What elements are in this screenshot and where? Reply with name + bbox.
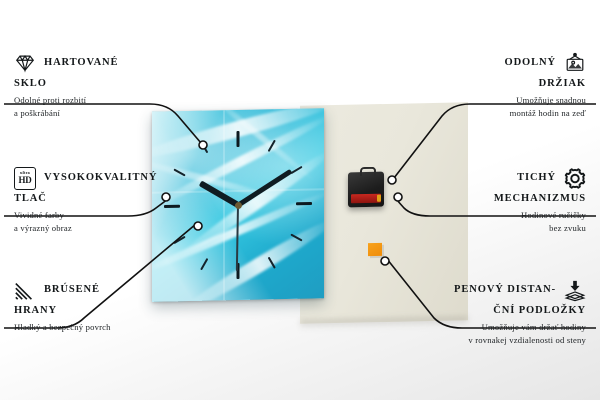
- hd-badge-hd-text: HD: [18, 176, 31, 185]
- feature-desc: Vividné farby a výrazný obraz: [14, 206, 184, 235]
- foam-pad-stack-icon: [564, 279, 586, 301]
- diamond-icon: [14, 52, 36, 74]
- feature-title-line2: SKLO: [14, 77, 184, 91]
- feature-desc-line: a výrazný obraz: [14, 222, 184, 235]
- mechanism-hanger: [360, 167, 376, 176]
- gear-icon: [564, 167, 586, 189]
- feature-desc: Umožňuje snadnou montáž hodin na zeď: [416, 91, 586, 120]
- feature-desc-line: Odolné proti rozbití: [14, 94, 184, 107]
- feature-durable-mount[interactable]: ODOLNÝ DRŽIAK Umožňuje snadnou montáž ho…: [416, 52, 586, 120]
- infographic-page: HARTOVANÉ SKLO Odolné proti rozbití a po…: [0, 0, 600, 400]
- feature-desc-line: bez zvuku: [416, 222, 586, 235]
- feature-title-line2: DRŽIAK: [416, 77, 586, 91]
- ultra-hd-badge-icon: ultra HD: [14, 167, 36, 189]
- feature-title: VYSOKOKVALITNÝ: [44, 171, 157, 185]
- feature-desc-line: Umožňuje snadnou: [416, 94, 586, 107]
- feature-desc: Odolné proti rozbití a poškrábání: [14, 91, 184, 120]
- feature-title: PENOVÝ DISTAN-: [454, 283, 556, 297]
- feature-foam-spacers[interactable]: PENOVÝ DISTAN- ČNÍ PODLOŽKY Umožňuje vám…: [406, 279, 586, 347]
- feature-desc-line: Hladký a bezpečný povrch: [14, 321, 184, 334]
- feature-desc: Hladký a bezpečný povrch: [14, 318, 184, 334]
- clock-minute-hand: [237, 169, 292, 207]
- clock-center-cap: [235, 201, 242, 208]
- clock-mechanism: [348, 172, 384, 208]
- feature-desc-line: Vividné farby: [14, 209, 184, 222]
- feature-desc-line: Hodinové ručičky: [416, 209, 586, 222]
- feature-desc: Umožňuje vám držať hodiny v rovnakej vzd…: [406, 318, 586, 347]
- feature-desc: Hodinové ručičky bez zvuku: [416, 206, 586, 235]
- feature-title: BRÚSENÉ: [44, 283, 100, 297]
- feature-title-line2: TLAČ: [14, 192, 184, 206]
- clock-second-hand: [236, 205, 239, 271]
- feature-ground-edges[interactable]: BRÚSENÉ HRANY Hladký a bezpečný povrch: [14, 279, 184, 334]
- feature-title-line2: HRANY: [14, 304, 184, 318]
- feature-title-line2: ČNÍ PODLOŽKY: [406, 304, 586, 318]
- feature-silent-mechanism[interactable]: TICHÝ MECHANIZMUS Hodinové ručičky bez z…: [416, 167, 586, 235]
- feature-title: ODOLNÝ: [505, 56, 557, 70]
- feature-desc-line: montáž hodin na zeď: [416, 107, 586, 120]
- feature-desc-line: a poškrábání: [14, 107, 184, 120]
- feature-title: TICHÝ: [517, 171, 556, 185]
- feature-hardened-glass[interactable]: HARTOVANÉ SKLO Odolné proti rozbití a po…: [14, 52, 184, 120]
- feature-desc-line: Umožňuje vám držať hodiny: [406, 321, 586, 334]
- battery-terminal: [377, 195, 381, 202]
- hanging-picture-icon: [564, 52, 586, 74]
- ground-edges-icon: [14, 279, 36, 301]
- feature-title: HARTOVANÉ: [44, 56, 118, 70]
- feature-desc-line: v rovnakej vzdialenosti od steny: [406, 334, 586, 347]
- feature-title-line2: MECHANIZMUS: [416, 192, 586, 206]
- feature-high-quality-print[interactable]: ultra HD VYSOKOKVALITNÝ TLAČ Vividné far…: [14, 167, 184, 235]
- foam-spacer-pad: [368, 243, 382, 256]
- clock-hour-hand: [199, 181, 240, 208]
